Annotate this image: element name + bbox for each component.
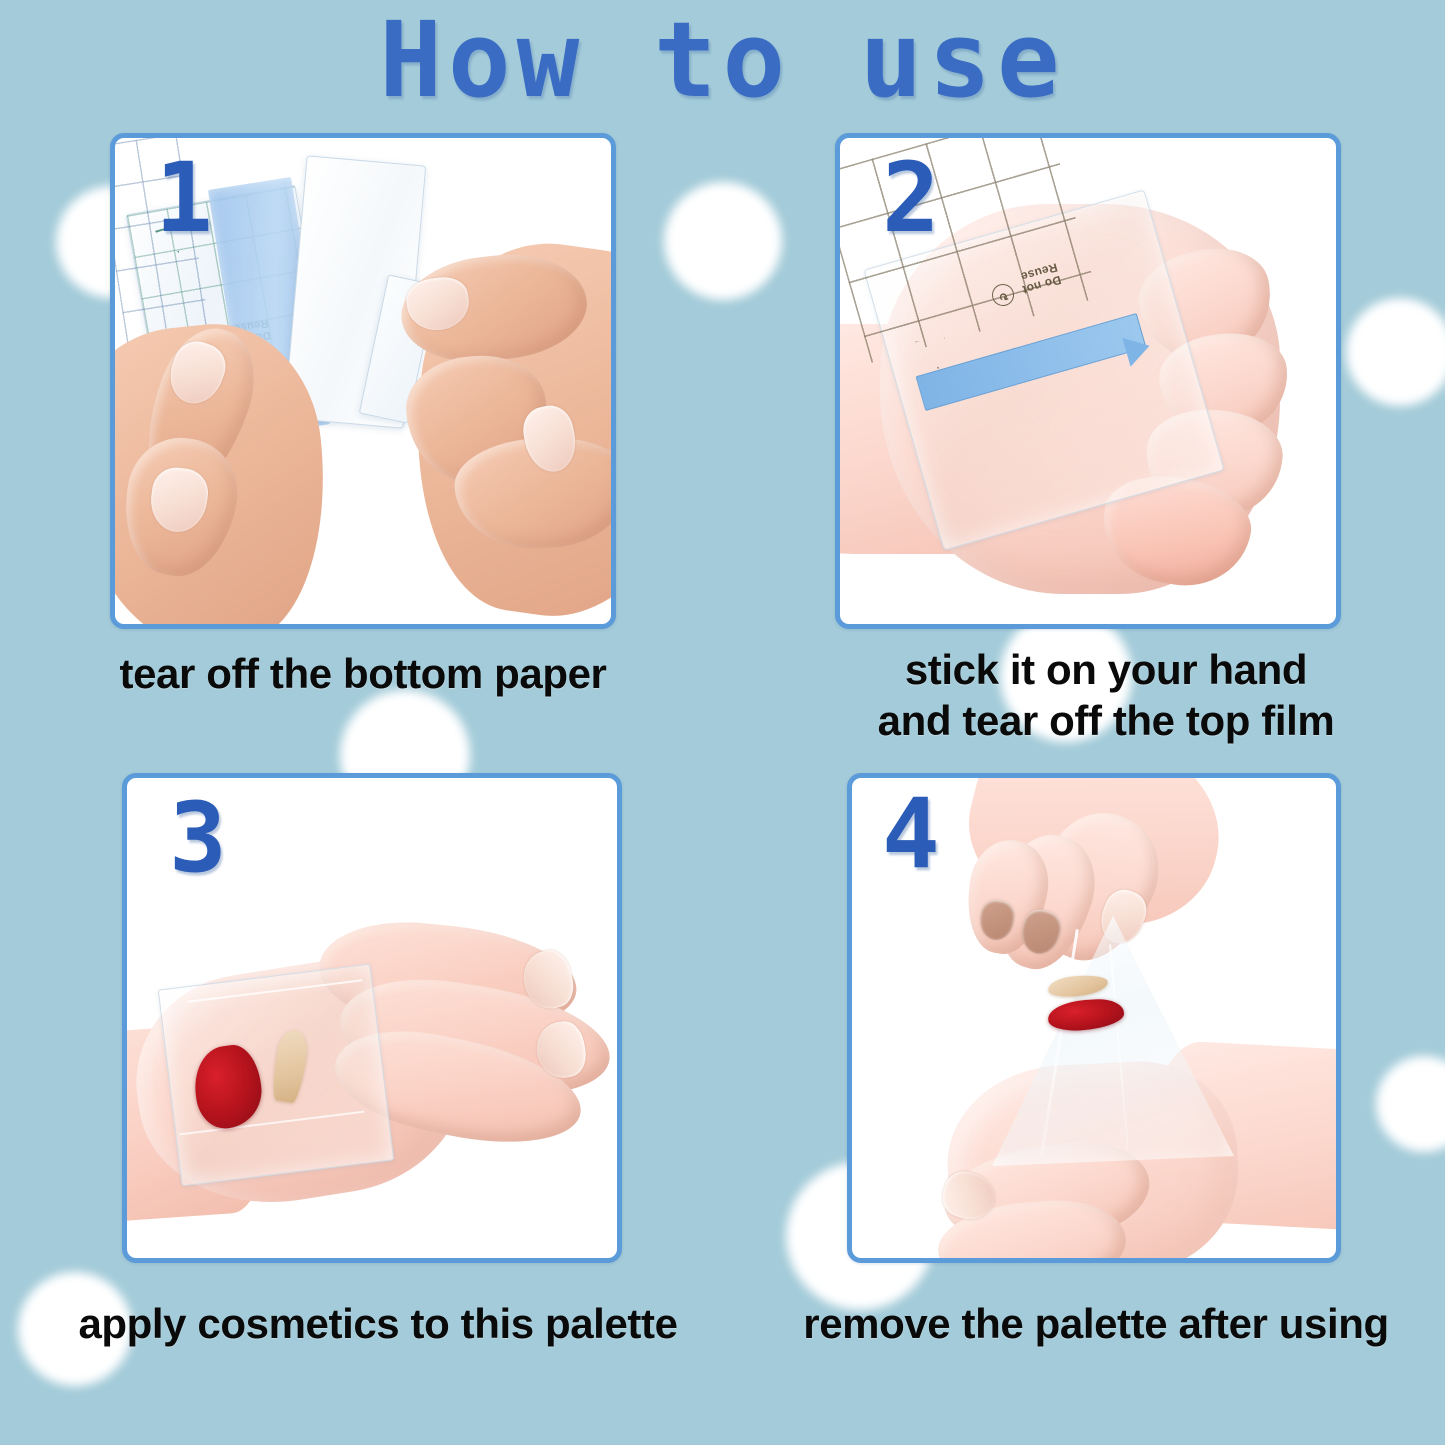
step-panel-4: 4 [847, 773, 1341, 1263]
bokeh-circle [664, 182, 782, 300]
step-caption-2: stick it on your hand and tear off the t… [826, 644, 1386, 746]
step-panel-2: 2 Do not Reuse ↻ [835, 133, 1341, 629]
bokeh-circle [1376, 1056, 1445, 1152]
step-caption-4: remove the palette after using [760, 1298, 1432, 1349]
step-panel-1: 1 Do not Reuse ↻ [110, 133, 616, 629]
step-panel-3: 3 [122, 773, 622, 1263]
page-title: How to use [0, 4, 1445, 116]
how-to-use-poster: How to use 1 Do not Reuse ↻ [0, 0, 1445, 1445]
step-caption-3: apply cosmetics to this palette [38, 1298, 718, 1349]
step-photo-2: Do not Reuse ↻ [840, 138, 1336, 624]
bokeh-circle [1346, 298, 1445, 406]
step-caption-1: tear off the bottom paper [60, 648, 666, 699]
step-photo-4 [852, 778, 1336, 1258]
step-photo-3 [127, 778, 617, 1258]
step-photo-1: Do not Reuse ↻ [115, 138, 611, 624]
